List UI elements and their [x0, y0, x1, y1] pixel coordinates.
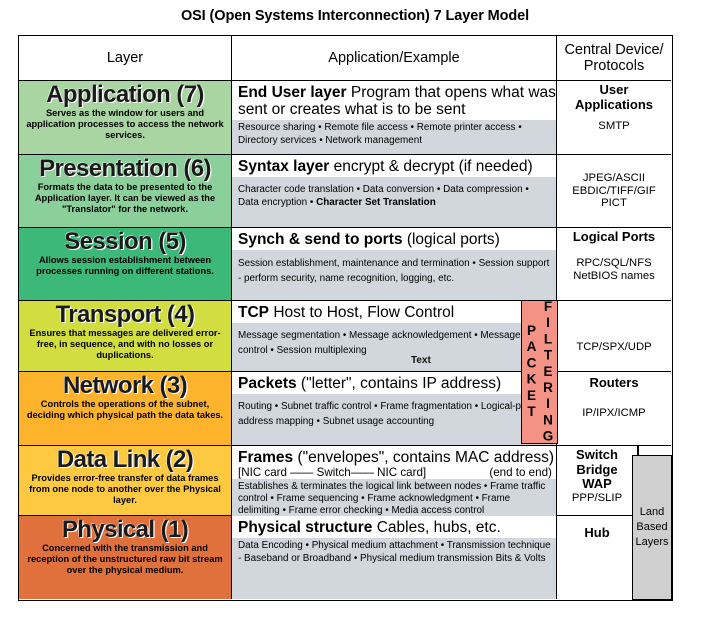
layer-description-application: Serves as the window for users and appli… — [19, 107, 231, 141]
layer-title-datalink: Data Link (2) — [57, 448, 193, 472]
device-name-network: Routers — [589, 372, 638, 391]
application-headline-session: Synch & send to ports (logical ports) — [232, 228, 556, 250]
layer-title-transport: Transport (4) — [56, 303, 195, 327]
device-protocols-network: IP/IPX/ICMP — [582, 391, 645, 420]
device-protocols-session: RPC/SQL/NFS NetBIOS names — [573, 245, 655, 283]
device-name-session: Logical Ports — [573, 228, 655, 245]
application-detail-network: Routing • Subnet traffic control • Frame… — [232, 394, 556, 445]
device-protocols-application: SMTP — [598, 112, 629, 133]
layer-row-network: Network (3) Controls the operations of t… — [19, 372, 671, 446]
application-detail-datalink: Establishes & terminates the logical lin… — [232, 479, 556, 517]
device-cell-network: Routers IP/IPX/ICMP — [557, 372, 671, 445]
page-title: OSI (Open Systems Interconnection) 7 Lay… — [0, 8, 710, 24]
header-device: Central Device/ Protocols — [557, 36, 671, 81]
packet-filtering-box: PACKET FILTERING — [521, 300, 558, 444]
layer-cell-transport: Transport (4) Ensures that messages are … — [19, 301, 232, 371]
layer-description-presentation: Formats the data to be presented to the … — [19, 181, 231, 215]
application-cell-session: Synch & send to ports (logical ports) Se… — [232, 228, 557, 300]
application-cell-network: Packets ("letter", contains IP address) … — [232, 372, 557, 445]
device-protocols-datalink: PPP/SLIP — [572, 492, 622, 505]
layer-title-application: Application (7) — [46, 83, 204, 107]
header-layer-label: Layer — [107, 50, 143, 66]
layer-title-presentation: Presentation (6) — [39, 157, 211, 181]
application-subline-datalink: [NIC card —— Switch—— NIC card] (end to … — [232, 466, 556, 479]
device-protocols-presentation: JPEG/ASCII EBDIC/TIFF/GIF PICT — [572, 172, 655, 211]
packet-filtering-label-packet: PACKET — [525, 323, 539, 420]
device-cell-transport: TCP/SPX/UDP — [557, 301, 671, 371]
land-based-line2: Based — [635, 520, 668, 535]
application-detail-transport: Message segmentation • Message acknowled… — [232, 323, 556, 371]
packet-filtering-label-filtering: FILTERING — [541, 299, 555, 445]
application-headline-datalink: Frames ("envelopes", contains MAC addres… — [232, 446, 556, 466]
header-application-label: Application/Example — [328, 50, 459, 66]
layer-row-session: Session (5) Allows session establishment… — [19, 228, 671, 301]
osi-model-diagram: OSI (Open Systems Interconnection) 7 Lay… — [0, 0, 710, 619]
device-protocols-transport: TCP/SPX/UDP — [576, 319, 651, 354]
header-application: Application/Example — [232, 36, 557, 81]
device-cell-presentation: JPEG/ASCII EBDIC/TIFF/GIF PICT — [557, 155, 671, 227]
layer-description-datalink: Provides error-free transfer of data fra… — [19, 472, 231, 506]
application-cell-physical: Physical structure Cables, hubs, etc. Da… — [232, 516, 557, 599]
layer-title-network: Network (3) — [63, 374, 187, 398]
layer-description-network: Controls the operations of the subnet, d… — [19, 398, 231, 421]
layer-row-application: Application (7) Serves as the window for… — [19, 81, 671, 155]
layer-row-physical: Physical (1) Concerned with the transmis… — [19, 516, 671, 599]
land-based-line1: Land — [635, 505, 668, 520]
application-detail-application: Resource sharing • Remote file access • … — [232, 120, 556, 154]
layer-description-session: Allows session establishment between pro… — [19, 254, 231, 277]
device-cell-session: Logical Ports RPC/SQL/NFS NetBIOS names — [557, 228, 671, 300]
layer-cell-session: Session (5) Allows session establishment… — [19, 228, 232, 300]
application-headline-transport: TCP Host to Host, Flow Control — [232, 301, 556, 323]
device-name-datalink: Switch Bridge WAP — [576, 446, 618, 492]
application-cell-presentation: Syntax layer encrypt & decrypt (if neede… — [232, 155, 557, 227]
application-cell-application: End User layer Program that opens what w… — [232, 81, 557, 154]
layer-description-physical: Concerned with the transmission and rece… — [19, 542, 231, 576]
layer-row-presentation: Presentation (6) Formats the data to be … — [19, 155, 671, 228]
device-name-application: User Applications — [575, 81, 653, 112]
header-device-line2: Protocols — [564, 58, 663, 74]
application-cell-datalink: Frames ("envelopes", contains MAC addres… — [232, 446, 557, 515]
header-device-line1: Central Device/ — [564, 42, 663, 58]
application-headline-application: End User layer Program that opens what w… — [232, 81, 556, 120]
layer-title-session: Session (5) — [64, 230, 185, 254]
application-headline-physical: Physical structure Cables, hubs, etc. — [232, 516, 556, 538]
layer-cell-application: Application (7) Serves as the window for… — [19, 81, 232, 154]
application-headline-presentation: Syntax layer encrypt & decrypt (if neede… — [232, 155, 556, 177]
application-detail-physical: Data Encoding • Physical medium attachme… — [232, 538, 556, 599]
header-layer: Layer — [19, 36, 232, 81]
application-headline-network: Packets ("letter", contains IP address) — [232, 372, 556, 394]
layer-cell-physical: Physical (1) Concerned with the transmis… — [19, 516, 232, 599]
device-cell-datalink: Switch Bridge WAP PPP/SLIP — [557, 446, 637, 515]
layer-description-transport: Ensures that messages are delivered erro… — [19, 327, 231, 361]
application-detail-presentation: Character code translation • Data conver… — [232, 177, 556, 227]
osi-table: Layer Application/Example Central Device… — [18, 35, 673, 601]
text-watermark-artifact: Text — [411, 355, 431, 366]
land-based-line3: Layers — [635, 535, 668, 550]
layer-title-physical: Physical (1) — [62, 518, 188, 542]
layer-row-transport: Transport (4) Ensures that messages are … — [19, 301, 671, 372]
application-cell-transport: TCP Host to Host, Flow Control Message s… — [232, 301, 557, 371]
device-name-physical: Hub — [584, 516, 609, 541]
layer-cell-datalink: Data Link (2) Provides error-free transf… — [19, 446, 232, 515]
layer-cell-network: Network (3) Controls the operations of t… — [19, 372, 232, 445]
device-cell-application: User Applications SMTP — [557, 81, 671, 154]
land-based-layers-box: Land Based Layers — [632, 455, 672, 600]
application-detail-session: Session establishment, maintenance and t… — [232, 250, 556, 300]
device-cell-physical: Hub — [557, 516, 637, 599]
layer-row-datalink: Data Link (2) Provides error-free transf… — [19, 446, 671, 516]
layer-cell-presentation: Presentation (6) Formats the data to be … — [19, 155, 232, 227]
